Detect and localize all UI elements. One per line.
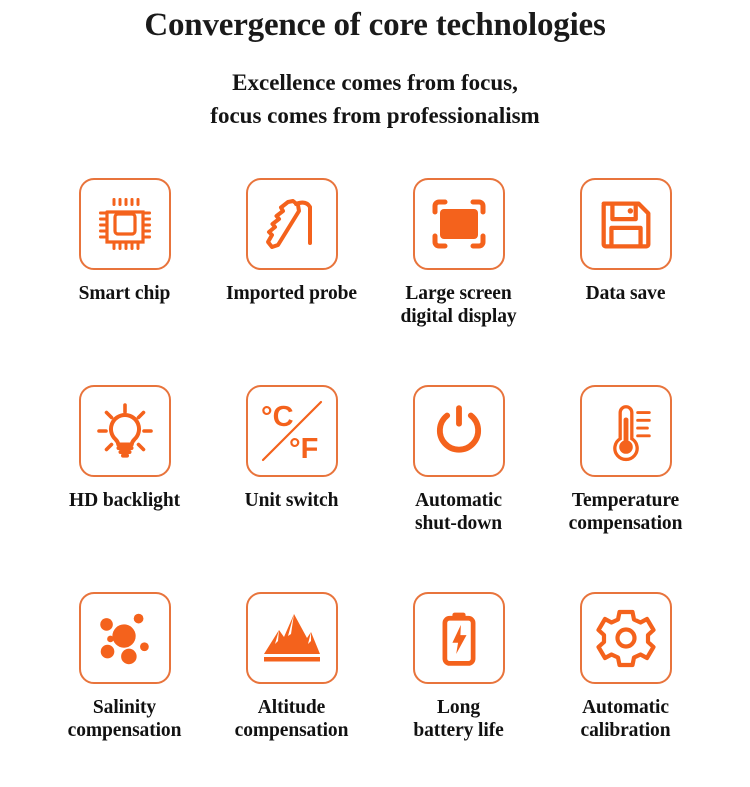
feature-item-automatic-calibration[interactable]: Automatic calibration [542, 580, 709, 787]
thermometer-icon [593, 398, 659, 464]
feature-item-salinity-compensation[interactable]: Salinity compensation [41, 580, 208, 787]
feature-item-automatic-shutdown[interactable]: Automatic shut-down [375, 373, 542, 580]
smart-chip-icon [91, 190, 159, 258]
mountain-altitude-icon [258, 604, 326, 672]
feature-item-smart-chip[interactable]: Smart chip [41, 166, 208, 373]
svg-text:°C: °C [261, 401, 294, 433]
feature-label-line-2: shut-down [375, 513, 542, 536]
feature-label: Automatic calibration [542, 697, 709, 743]
feature-icon-tile [79, 178, 171, 270]
subtitle-line-1: Excellence comes from focus, [0, 66, 750, 99]
gear-icon [592, 604, 660, 672]
feature-label: Smart chip [41, 283, 208, 306]
feature-label-line-1: Long [375, 697, 542, 720]
feature-icon-tile: °C °F [246, 385, 338, 477]
battery-bolt-icon [427, 606, 491, 670]
feature-item-large-screen-display[interactable]: Large screen digital display [375, 166, 542, 373]
feature-icon-tile [413, 592, 505, 684]
feature-icon-tile [246, 178, 338, 270]
feature-label: Imported probe [208, 283, 375, 306]
feature-label: Long battery life [375, 697, 542, 743]
power-icon [428, 400, 490, 462]
feature-item-altitude-compensation[interactable]: Altitude compensation [208, 580, 375, 787]
feature-label: HD backlight [41, 490, 208, 513]
feature-label-line-2: compensation [208, 720, 375, 743]
feature-label-line-2: compensation [41, 720, 208, 743]
feature-label-line-2: digital display [375, 306, 542, 329]
feature-label-line-1: Salinity [41, 697, 208, 720]
feature-item-hd-backlight[interactable]: HD backlight [41, 373, 208, 580]
feature-label-line-2: calibration [542, 720, 709, 743]
feature-icon-tile [246, 592, 338, 684]
feature-icon-tile [580, 385, 672, 477]
feature-label-line-1: Automatic [375, 490, 542, 513]
feature-label: Salinity compensation [41, 697, 208, 743]
feature-label: Automatic shut-down [375, 490, 542, 536]
feature-item-long-battery-life[interactable]: Long battery life [375, 580, 542, 787]
page-subtitle: Excellence comes from focus, focus comes… [0, 66, 750, 133]
feature-item-unit-switch[interactable]: °C °F Unit switch [208, 373, 375, 580]
feature-icon-tile [413, 178, 505, 270]
feature-label-line-1: HD backlight [41, 490, 208, 513]
feature-label-line-1: Unit switch [208, 490, 375, 513]
feature-label: Data save [542, 283, 709, 306]
feature-label: Temperature compensation [542, 490, 709, 536]
feature-label-line-1: Temperature [542, 490, 709, 513]
feature-label: Altitude compensation [208, 697, 375, 743]
salinity-particles-icon [92, 605, 158, 671]
light-bulb-icon [91, 397, 159, 465]
feature-item-data-save[interactable]: Data save [542, 166, 709, 373]
feature-icon-tile [580, 592, 672, 684]
page-header: Convergence of core technologies Excelle… [0, 0, 750, 133]
imported-probe-icon [258, 190, 326, 258]
feature-label-line-2: battery life [375, 720, 542, 743]
feature-grid: Smart chip Imported probe [0, 166, 750, 787]
feature-icon-tile [79, 592, 171, 684]
feature-icon-tile [79, 385, 171, 477]
feature-item-imported-probe[interactable]: Imported probe [208, 166, 375, 373]
feature-icon-tile [580, 178, 672, 270]
subtitle-line-2: focus comes from professionalism [0, 99, 750, 132]
large-screen-display-icon [425, 190, 493, 258]
feature-icon-tile [413, 385, 505, 477]
feature-label-line-1: Imported probe [208, 283, 375, 306]
feature-label-line-1: Altitude [208, 697, 375, 720]
feature-label-line-1: Automatic [542, 697, 709, 720]
feature-highlights-page: Convergence of core technologies Excelle… [0, 0, 750, 750]
feature-item-temperature-compensation[interactable]: Temperature compensation [542, 373, 709, 580]
page-title: Convergence of core technologies [0, 6, 750, 45]
svg-text:°F: °F [289, 433, 318, 465]
feature-label-line-1: Smart chip [41, 283, 208, 306]
celsius-fahrenheit-switch-icon: °C °F [255, 394, 329, 468]
feature-label: Large screen digital display [375, 283, 542, 329]
feature-label-line-2: compensation [542, 513, 709, 536]
feature-label-line-1: Large screen [375, 283, 542, 306]
feature-label: Unit switch [208, 490, 375, 513]
feature-label-line-1: Data save [542, 283, 709, 306]
floppy-disk-save-icon [593, 191, 659, 257]
